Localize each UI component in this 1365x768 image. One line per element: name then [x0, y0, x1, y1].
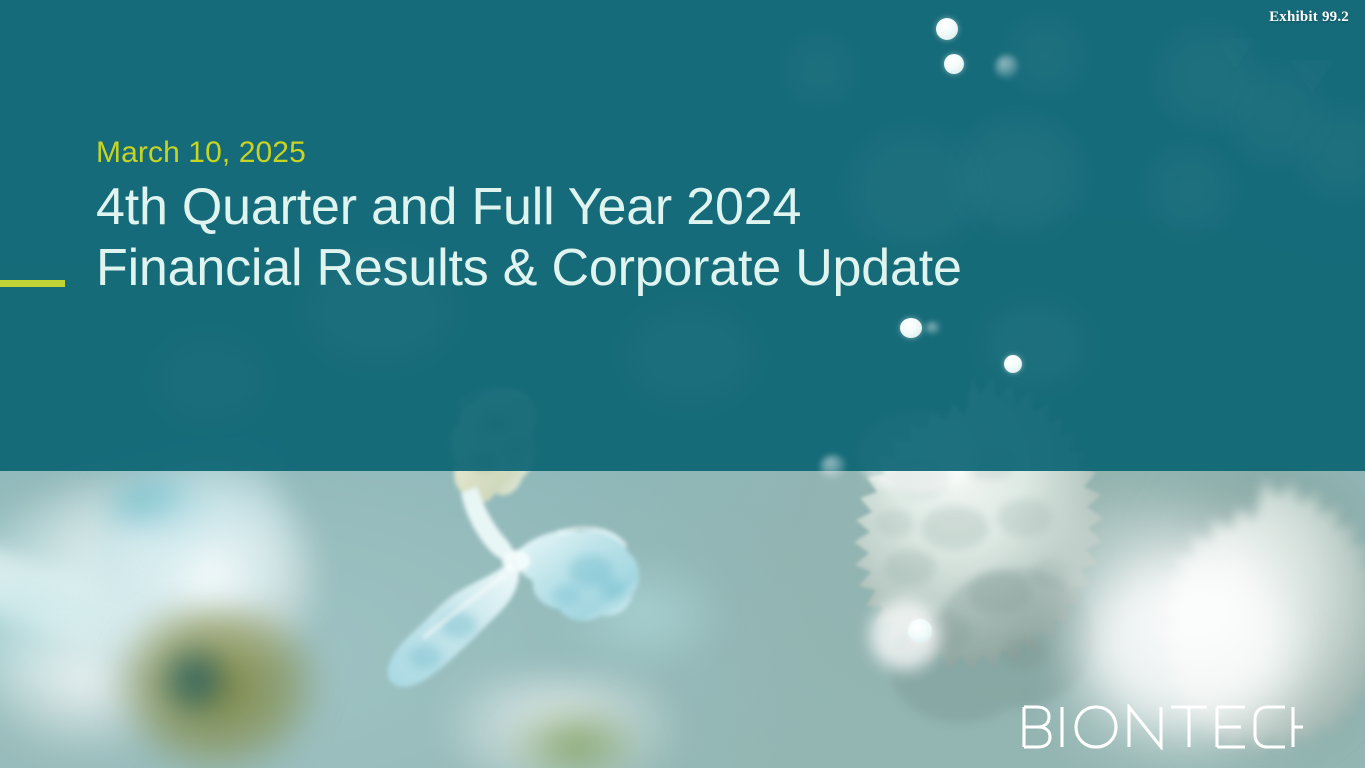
title-block: March 10, 2025 4th Quarter and Full Year… [96, 136, 1196, 299]
biontech-logo [1021, 704, 1303, 750]
title-line-2: Financial Results & Corporate Update [96, 238, 1196, 299]
accent-bar [0, 280, 65, 287]
presentation-date: March 10, 2025 [96, 136, 1196, 171]
title-line-1: 4th Quarter and Full Year 2024 [96, 177, 1196, 238]
exhibit-label: Exhibit 99.2 [1269, 9, 1349, 26]
title-slide: Exhibit 99.2 March 10, 2025 4th Quarter … [0, 0, 1365, 768]
